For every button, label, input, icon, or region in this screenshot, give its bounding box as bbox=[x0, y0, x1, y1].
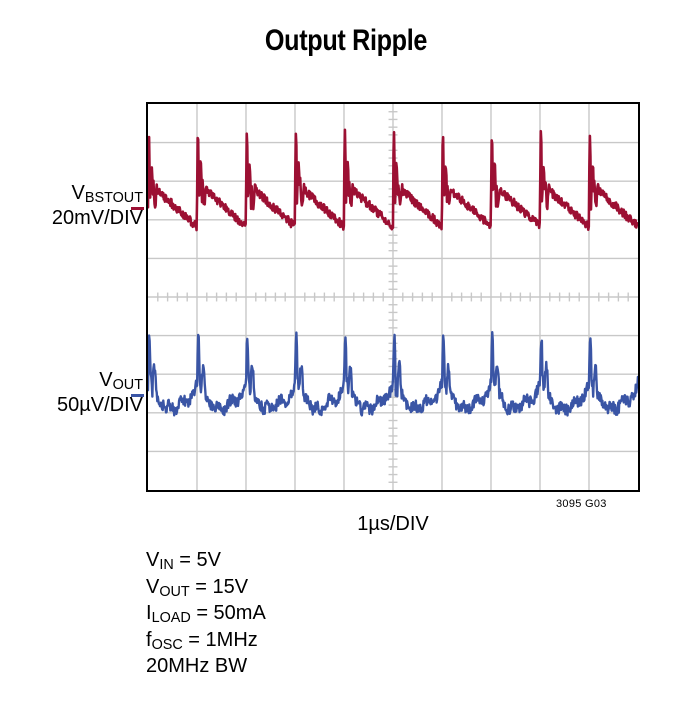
vbstout-scale: 20mV/DIV bbox=[52, 207, 143, 230]
condition-subscript: OSC bbox=[152, 637, 183, 653]
condition-row: VOUT = 15V bbox=[146, 575, 266, 602]
axis-label-vbstout: VBSTOUT 20mV/DIV bbox=[52, 182, 143, 230]
vout-symbol: V bbox=[99, 369, 112, 391]
waveform-vbstout bbox=[148, 130, 638, 230]
condition-subscript: OUT bbox=[159, 584, 189, 600]
reference-marker-vout bbox=[131, 394, 144, 397]
condition-symbol: V bbox=[146, 549, 159, 571]
condition-symbol: V bbox=[146, 576, 159, 598]
condition-subscript: LOAD bbox=[152, 610, 191, 626]
condition-value: = 1MHz bbox=[183, 629, 258, 651]
condition-row: fOSC = 1MHz bbox=[146, 628, 266, 655]
axis-label-vout: VOUT 50µV/DIV bbox=[57, 369, 143, 417]
condition-subscript: IN bbox=[159, 557, 173, 573]
x-axis-label: 1µs/DIV bbox=[146, 513, 640, 536]
figure-id: 3095 G03 bbox=[556, 498, 607, 510]
reference-marker-vbstout bbox=[131, 207, 144, 210]
conditions-block: VIN = 5VVOUT = 15VILOAD = 50mAfOSC = 1MH… bbox=[146, 548, 266, 679]
vout-subscript: OUT bbox=[113, 377, 143, 393]
condition-value: = 15V bbox=[190, 576, 248, 598]
condition-row: 20MHz BW bbox=[146, 654, 266, 679]
vout-scale: 50µV/DIV bbox=[57, 394, 143, 417]
vbstout-symbol: V bbox=[72, 182, 85, 204]
oscilloscope-plot bbox=[146, 102, 640, 492]
vbstout-subscript: BSTOUT bbox=[85, 190, 143, 206]
condition-value: = 50mA bbox=[191, 602, 266, 624]
condition-row: VIN = 5V bbox=[146, 548, 266, 575]
condition-symbol: I bbox=[146, 602, 152, 624]
page-title: Output Ripple bbox=[55, 24, 636, 58]
plot-canvas bbox=[148, 104, 638, 490]
condition-symbol: 20MHz BW bbox=[146, 655, 247, 677]
condition-row: ILOAD = 50mA bbox=[146, 601, 266, 628]
condition-value: = 5V bbox=[174, 549, 221, 571]
condition-symbol: f bbox=[146, 629, 152, 651]
